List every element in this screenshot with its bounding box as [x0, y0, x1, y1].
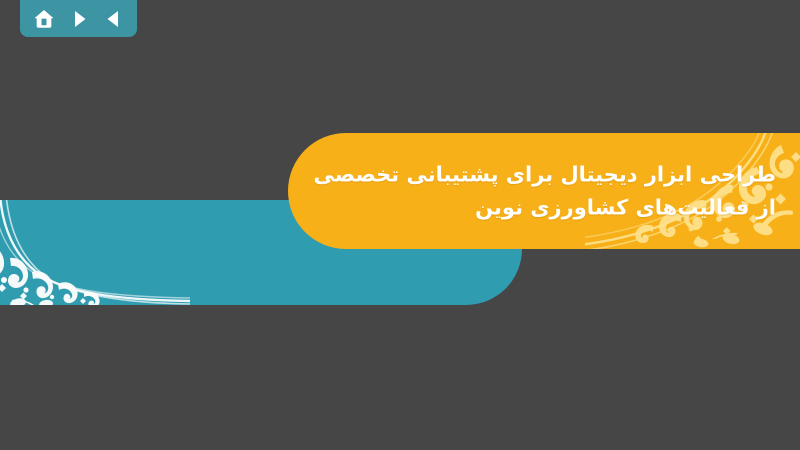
home-icon: [33, 8, 55, 30]
forward-triangle-icon: [69, 9, 89, 29]
back-triangle-icon: [104, 9, 124, 29]
slide-canvas: طراحی ابزار دیجیتال برای پشتیبانی تخصصی …: [0, 0, 800, 450]
navigation-bar: [20, 0, 137, 37]
home-button[interactable]: [31, 6, 57, 32]
slide-title-line-2: از فعالیت‌های کشاورزی نوین: [328, 191, 776, 224]
title-banner: طراحی ابزار دیجیتال برای پشتیبانی تخصصی …: [288, 133, 800, 249]
previous-slide-button[interactable]: [101, 6, 127, 32]
slide-title-line-1: طراحی ابزار دیجیتال برای پشتیبانی تخصصی: [328, 158, 776, 191]
slide-title: طراحی ابزار دیجیتال برای پشتیبانی تخصصی …: [328, 158, 776, 223]
teal-arabesque-ornament-icon: [0, 200, 190, 305]
next-slide-button[interactable]: [66, 6, 92, 32]
